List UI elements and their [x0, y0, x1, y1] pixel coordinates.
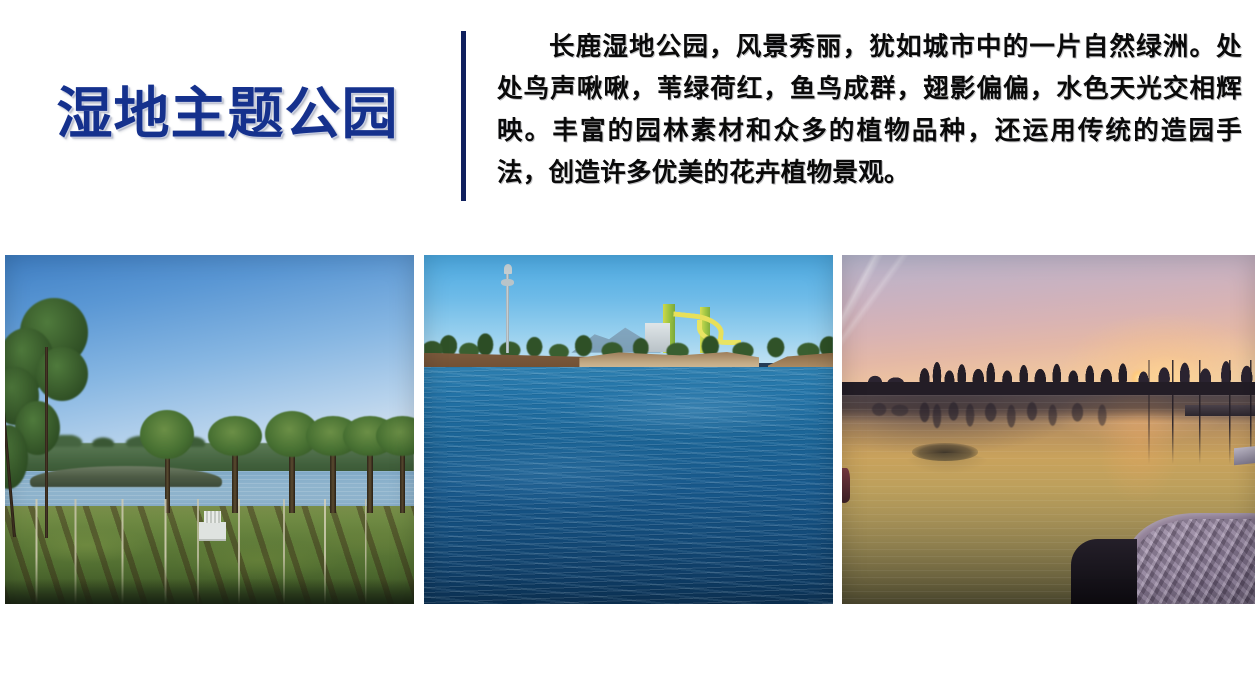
gallery-photo-2[interactable] — [424, 255, 833, 604]
slide-root: 湿地主题公园 长鹿湿地公园，风景秀丽，犹如城市中的一片自然绿洲。处处鸟声啾啾，苇… — [0, 0, 1260, 700]
communication-tower — [506, 272, 510, 352]
lake-water — [424, 367, 833, 604]
sunset-lake-scene — [842, 255, 1255, 604]
side-deck — [1234, 446, 1255, 466]
wide-lake-scene — [424, 255, 833, 604]
gallery-photo-1[interactable] — [5, 255, 414, 604]
stone-platform — [1127, 513, 1255, 604]
header-section: 湿地主题公园 长鹿湿地公园，风景秀丽，犹如城市中的一片自然绿洲。处处鸟声啾啾，苇… — [0, 0, 1260, 245]
page-title: 湿地主题公园 — [57, 87, 399, 143]
vegetated-islet — [912, 443, 978, 460]
foreground-buoy — [842, 468, 850, 503]
gallery-photo-3[interactable] — [842, 255, 1255, 604]
description-paragraph: 长鹿湿地公园，风景秀丽，犹如城市中的一片自然绿洲。处处鸟声啾啾，苇绿荷红，鱼鸟成… — [497, 26, 1242, 194]
vertical-divider — [461, 31, 466, 201]
foreground-tree — [5, 293, 128, 537]
title-block: 湿地主题公园 — [0, 70, 455, 160]
wetland-daytime-scene — [5, 255, 414, 604]
white-bench — [199, 522, 226, 541]
photo-gallery — [0, 255, 1260, 605]
